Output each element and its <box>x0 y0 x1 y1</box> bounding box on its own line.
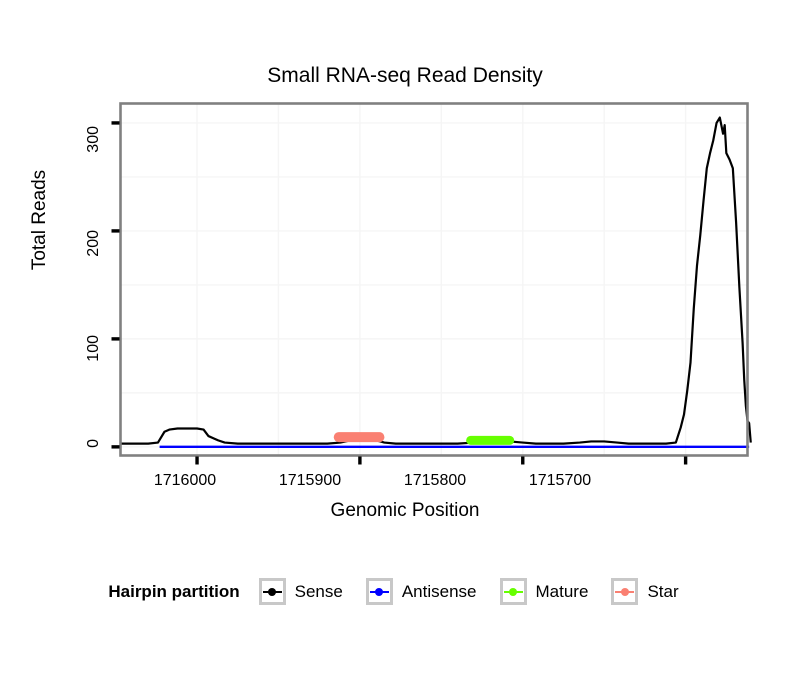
chart-container: Small RNA-seq Read Density Total Reads G… <box>0 0 810 690</box>
legend-item-mature[interactable]: Mature <box>500 578 603 605</box>
legend-dot-mature <box>509 588 517 596</box>
legend-label-mature: Mature <box>536 582 589 602</box>
legend-label-sense: Sense <box>295 582 343 602</box>
legend-key-antisense <box>366 578 393 605</box>
legend-item-star[interactable]: Star <box>611 578 692 605</box>
legend-item-sense[interactable]: Sense <box>259 578 357 605</box>
legend-key-sense <box>259 578 286 605</box>
panel-background <box>121 104 748 456</box>
legend-key-star <box>611 578 638 605</box>
legend-title: Hairpin partition <box>108 582 239 602</box>
legend-item-antisense[interactable]: Antisense <box>366 578 491 605</box>
legend: Hairpin partition Sense Antisense Mature <box>0 578 810 605</box>
legend-dot-star <box>621 588 629 596</box>
legend-dot-antisense <box>375 588 383 596</box>
legend-dot-sense <box>268 588 276 596</box>
legend-key-mature <box>500 578 527 605</box>
legend-label-star: Star <box>647 582 678 602</box>
legend-label-antisense: Antisense <box>402 582 477 602</box>
